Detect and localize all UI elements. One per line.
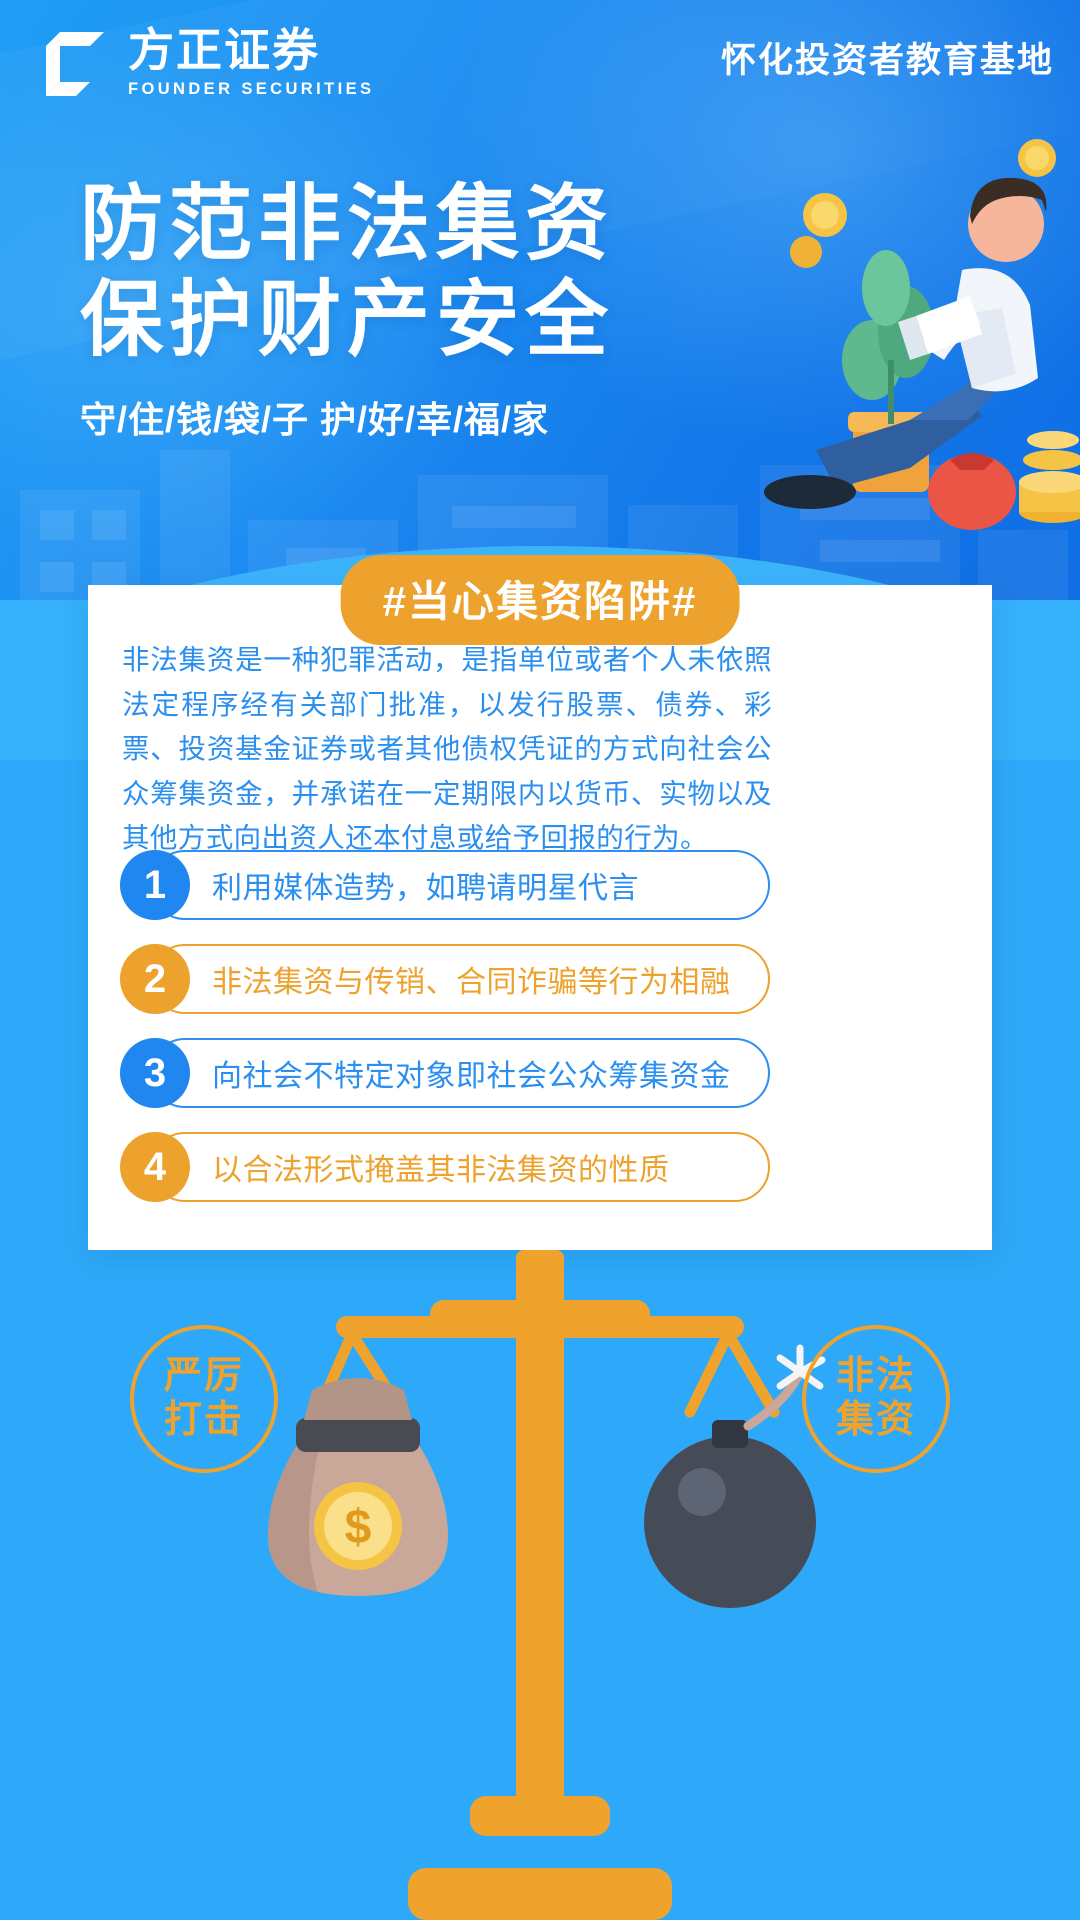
- strike-hard-badge: 严厉 打击: [130, 1325, 278, 1473]
- hero-title-block: 防范非法集资 保护财产安全 守/住/钱/袋/子 护/好/幸/福/家: [80, 176, 614, 443]
- list-item-number: 1: [120, 850, 190, 920]
- list-item-label: 向社会不特定对象即社会公众筹集资金: [212, 1038, 731, 1108]
- list-item[interactable]: 4 以合法形式掩盖其非法集资的性质: [120, 1132, 770, 1202]
- list-item[interactable]: 1 利用媒体造势，如聘请明星代言: [120, 850, 770, 920]
- brand-name-en: FOUNDER SECURITIES: [128, 80, 374, 99]
- list-item-label: 利用媒体造势，如聘请明星代言: [212, 850, 639, 920]
- hero-title-line-2: 保护财产安全: [80, 272, 614, 368]
- investor-education-base-title: 怀化投资者教育基地: [721, 32, 1054, 83]
- list-item-label: 非法集资与传销、合同诈骗等行为相融: [212, 944, 731, 1014]
- strike-hard-badge-line-1: 严厉: [164, 1355, 244, 1399]
- list-item-label: 以合法形式掩盖其非法集资的性质: [212, 1132, 670, 1202]
- hero-title-line-1: 防范非法集资: [80, 176, 614, 272]
- svg-text:$: $: [345, 1501, 372, 1554]
- warning-signs-list: 1 利用媒体造势，如聘请明星代言 2 非法集资与传销、合同诈骗等行为相融 3 向…: [120, 850, 770, 1226]
- person-reading-book-with-coins-and-plant-illustration: [610, 120, 1080, 540]
- list-item-number: 2: [120, 944, 190, 1014]
- list-item[interactable]: 2 非法集资与传销、合同诈骗等行为相融: [120, 944, 770, 1014]
- poster-root: 方正证券 FOUNDER SECURITIES 怀化投资者教育基地 防范非法集资…: [0, 0, 1080, 1920]
- illegal-fundraising-badge-line-1: 非法: [836, 1355, 916, 1399]
- illegal-fundraising-badge-line-2: 集资: [836, 1399, 916, 1443]
- strike-hard-badge-line-2: 打击: [164, 1399, 244, 1443]
- list-item-number: 4: [120, 1132, 190, 1202]
- brand-logo: 方正证券 FOUNDER SECURITIES: [38, 26, 374, 100]
- hero-tagline: 守/住/钱/袋/子 护/好/幸/福/家: [80, 391, 614, 443]
- list-item[interactable]: 3 向社会不特定对象即社会公众筹集资金: [120, 1038, 770, 1108]
- brand-name-cn: 方正证券: [128, 27, 374, 73]
- list-item-number: 3: [120, 1038, 190, 1108]
- illegal-fundraising-badge: 非法 集资: [802, 1325, 950, 1473]
- founder-cube-logo-icon: [38, 26, 112, 100]
- card-title-badge: #当心集资陷阱#: [341, 555, 740, 645]
- definition-paragraph: 非法集资是一种犯罪活动，是指单位或者个人未依照法定程序经有关部门批准，以发行股票…: [122, 638, 772, 861]
